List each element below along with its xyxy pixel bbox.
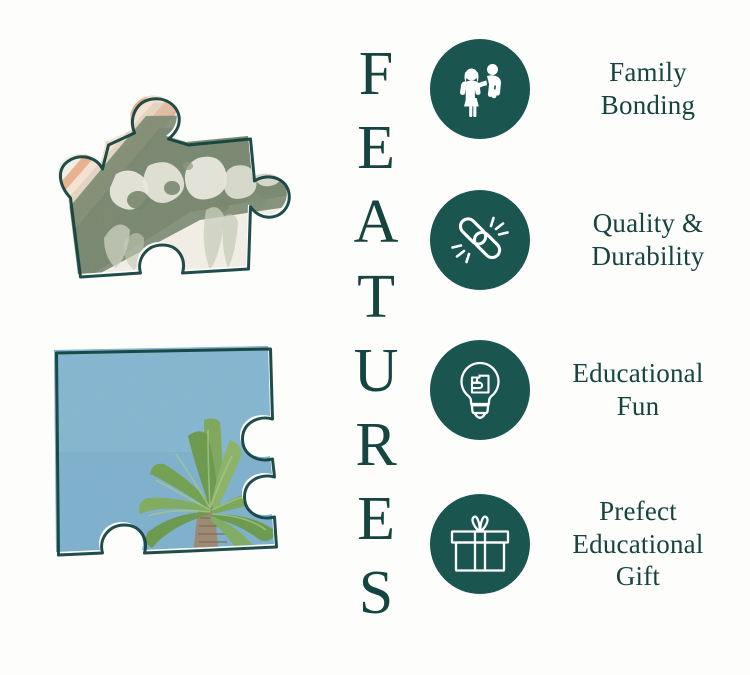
feature-item-educational-fun: Educational Fun xyxy=(430,338,750,442)
features-infographic: F E A T U R E S xyxy=(0,0,750,675)
feature-label: Quality & Durability xyxy=(530,207,750,273)
feature-label: Family Bonding xyxy=(530,56,750,122)
title-letter: F xyxy=(359,44,393,105)
puzzle-artwork xyxy=(0,0,330,675)
title-letter: U xyxy=(354,341,399,402)
gift-box-icon xyxy=(430,494,530,594)
title-letter: E xyxy=(357,118,395,179)
puzzle-piece-palm xyxy=(42,332,322,582)
title-letter: S xyxy=(359,563,393,624)
feature-item-quality-durability: Quality & Durability xyxy=(430,188,750,292)
feature-item-educational-gift: Prefect Educational Gift xyxy=(430,492,750,596)
title-letter: A xyxy=(354,192,399,253)
feature-label: Prefect Educational Gift xyxy=(516,495,750,594)
page-title-features: F E A T U R E S xyxy=(330,44,422,624)
title-letter: E xyxy=(357,489,395,550)
title-letter: R xyxy=(355,415,396,476)
features-list: Family Bonding xyxy=(430,30,750,645)
chain-link-icon xyxy=(430,190,530,290)
lightbulb-puzzle-icon xyxy=(430,340,530,440)
puzzle-piece-landscape xyxy=(20,70,320,320)
title-letter: T xyxy=(357,267,395,328)
family-bonding-icon xyxy=(430,39,530,139)
feature-label: Educational Fun xyxy=(516,357,750,423)
feature-item-family-bonding: Family Bonding xyxy=(430,37,750,141)
